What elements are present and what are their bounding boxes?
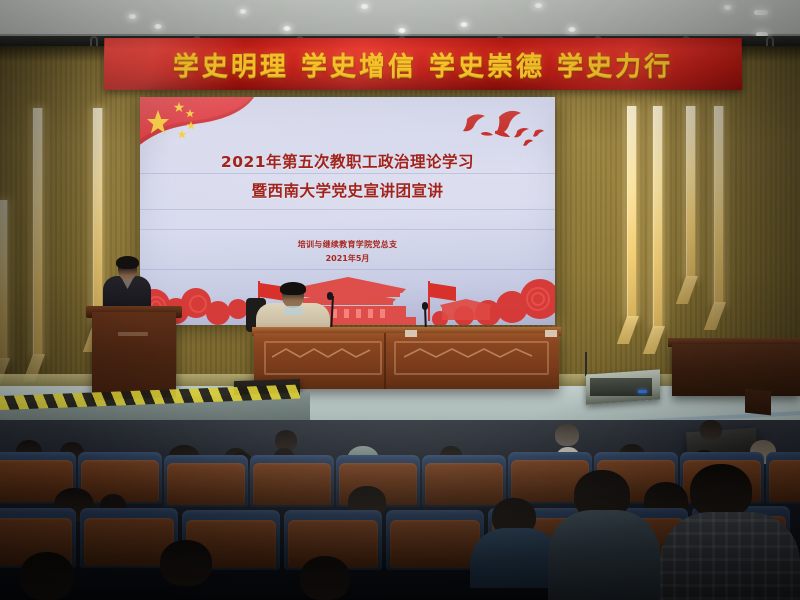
presenter-hair <box>280 282 306 295</box>
slide-title-line2: 暨西南大学党史宣讲团宣讲 <box>140 179 555 201</box>
projection-screen: 2021年第五次教职工政治理论学习 暨西南大学党史宣讲团宣讲 培训与继续教育学院… <box>140 97 555 325</box>
ceiling-downlight <box>283 26 291 31</box>
ceiling-downlight <box>239 9 247 14</box>
microphone-capsule-icon <box>422 302 428 310</box>
red-slogan-banner: 学史明理 学史增信 学史崇德 学史力行 <box>104 38 743 90</box>
ceiling-downlight <box>568 27 576 32</box>
ceiling-downlight <box>460 22 468 27</box>
ceiling-downlight <box>723 5 732 10</box>
slide-subtitle-line1: 培训与继续教育学院党总支 <box>140 239 555 250</box>
face-mask-icon <box>284 306 303 315</box>
slide-title-line1: 2021年第五次教职工政治理论学习 <box>140 150 555 172</box>
name-card <box>405 330 417 337</box>
side-table <box>672 344 800 396</box>
speaker-hair <box>116 256 139 269</box>
auditorium-ambient-shading <box>0 420 800 600</box>
auditorium-photo: 学史明理 学史增信 学史崇德 学史力行 <box>0 0 800 600</box>
tiananmen-gate-icon <box>140 259 555 325</box>
ceiling-downlight <box>534 3 543 8</box>
table-seam <box>384 333 386 389</box>
ceiling-downlight <box>154 24 162 29</box>
ceiling-light-strip <box>754 10 768 15</box>
lectern-plate <box>118 332 148 336</box>
wall-accent-light <box>627 106 637 318</box>
table-chevron-ornament <box>272 346 374 360</box>
banner-text: 学史明理 学史增信 学史崇德 学史力行 <box>173 46 674 83</box>
table-chevron-ornament <box>404 346 538 360</box>
ceiling-downlight <box>398 28 406 33</box>
mic-stand <box>585 352 587 376</box>
name-card <box>545 330 557 337</box>
monitor-led-icon <box>638 390 647 393</box>
side-table-leg <box>745 389 771 416</box>
stage-monitor-grille <box>590 378 652 396</box>
microphone-capsule-icon <box>327 292 333 300</box>
ceiling-downlight <box>128 14 137 19</box>
ceiling-downlight <box>360 4 369 9</box>
